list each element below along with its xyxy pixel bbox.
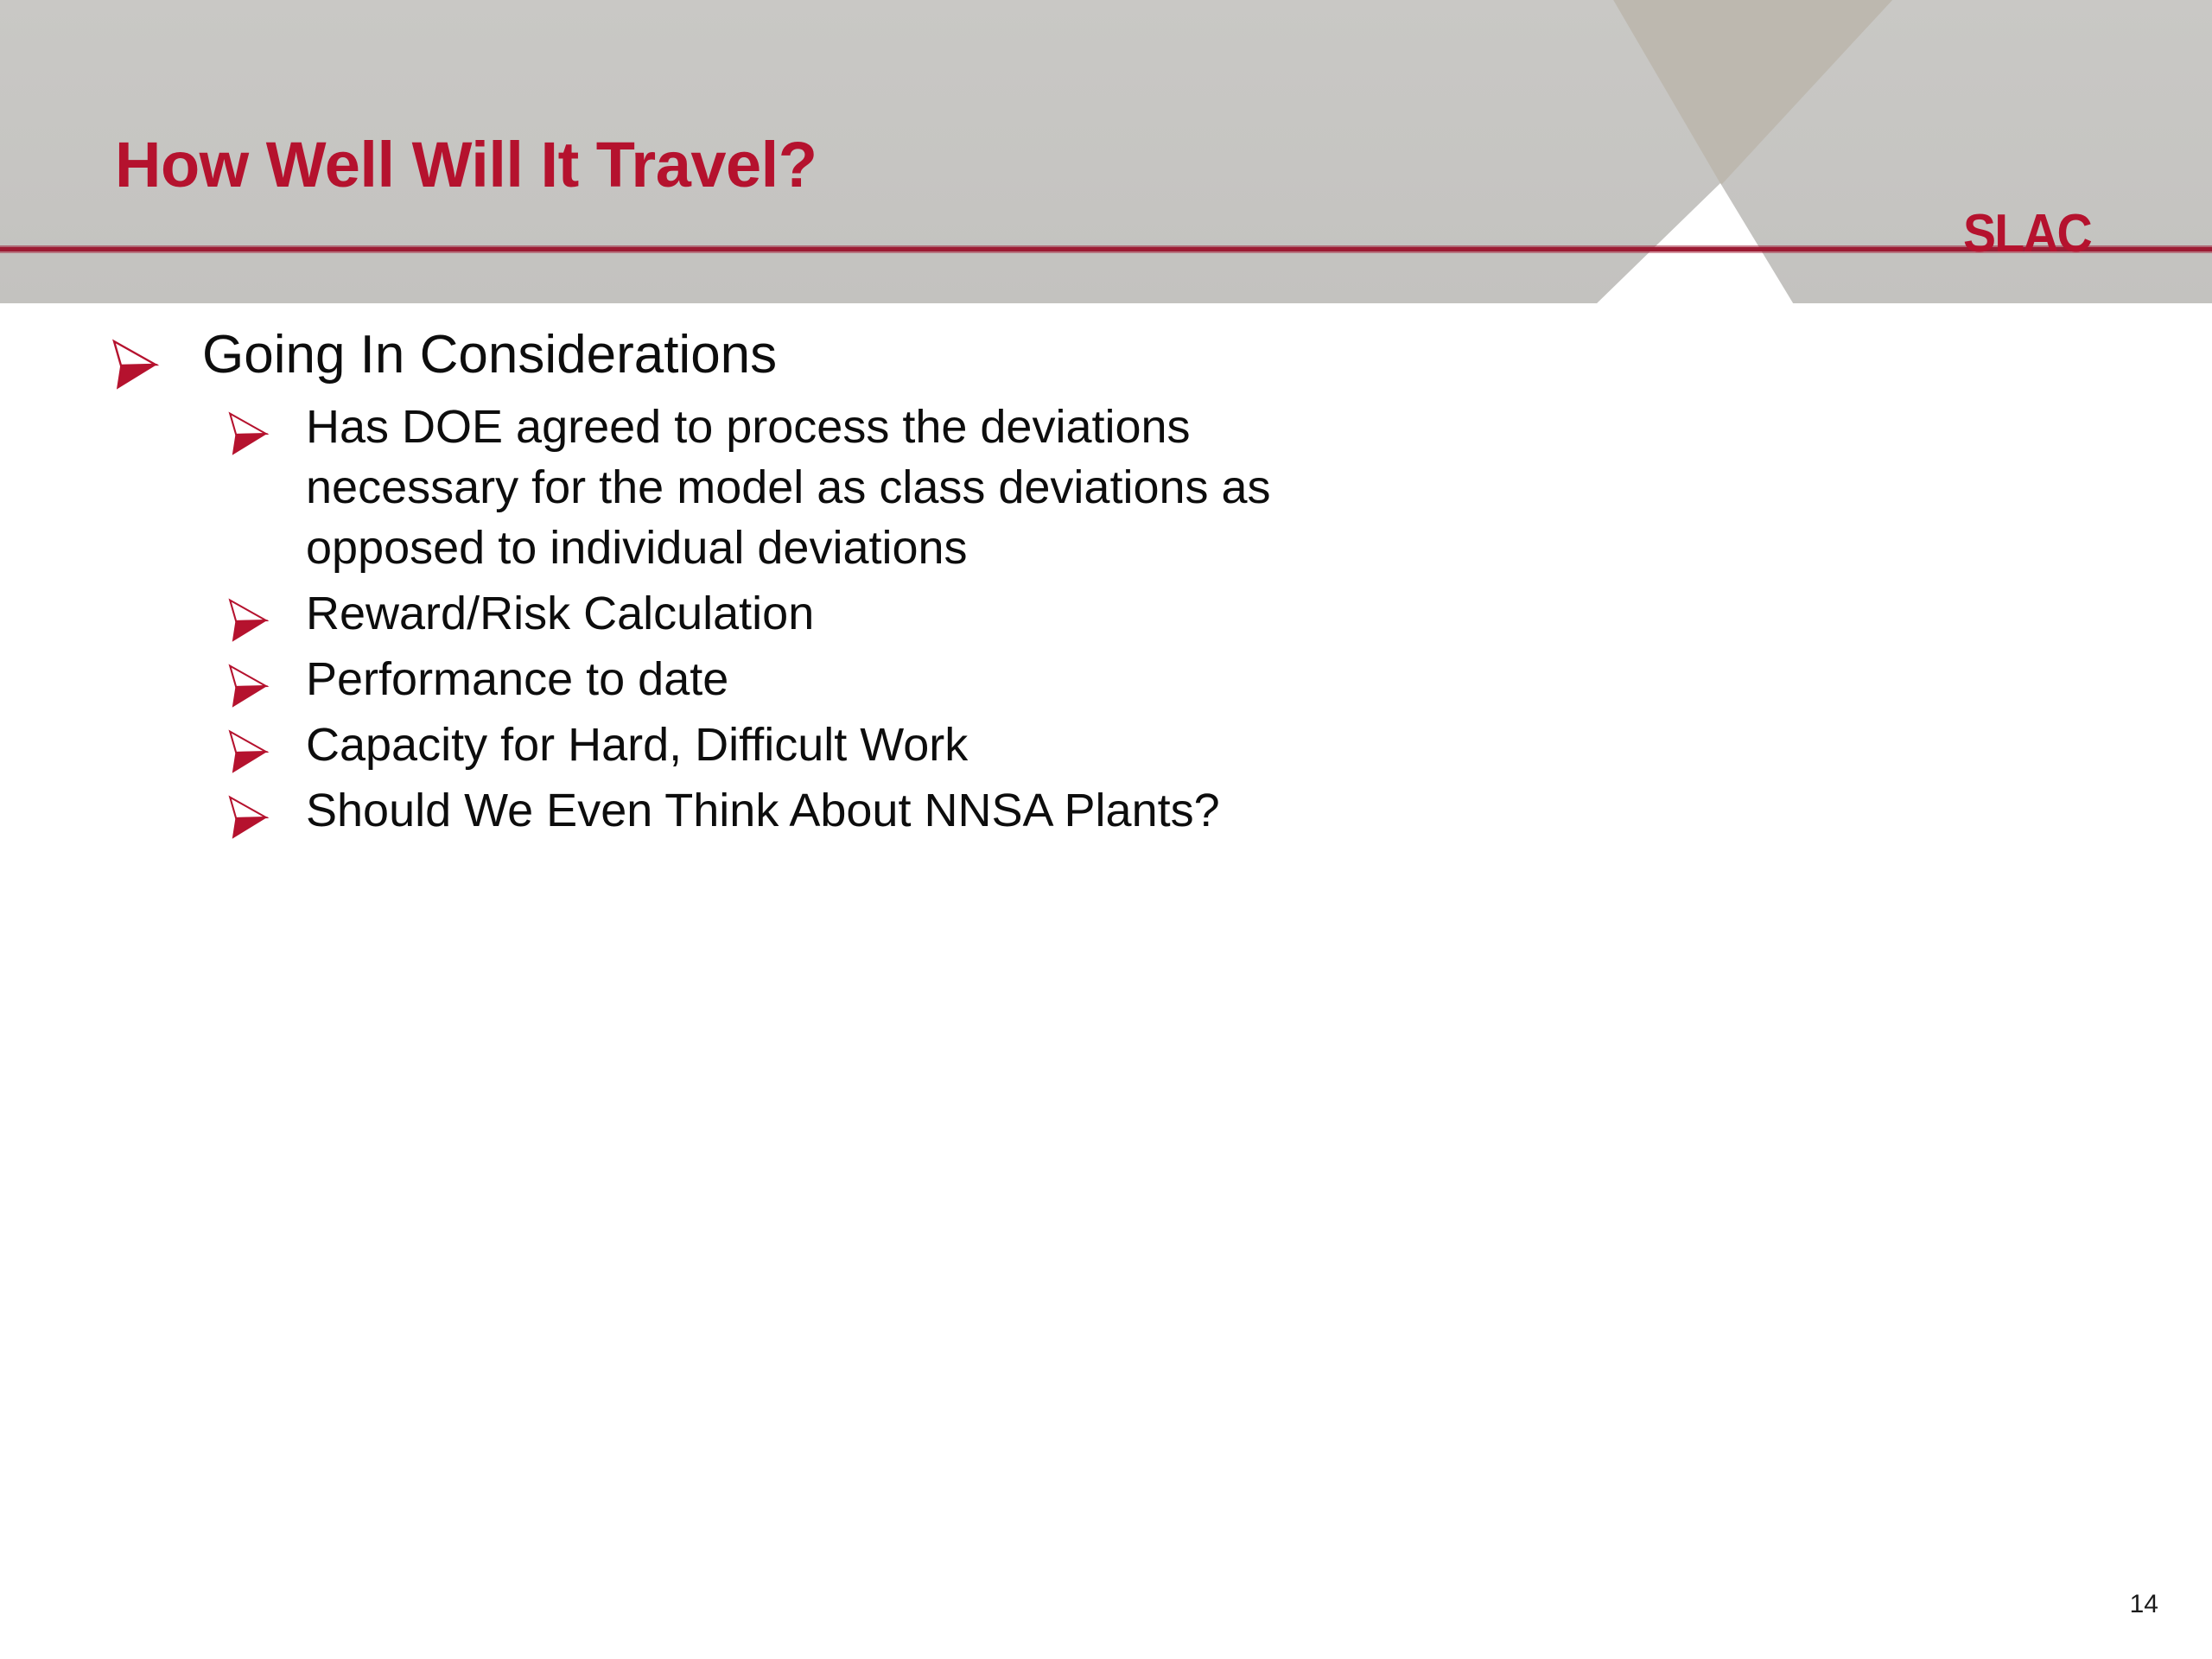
- page-title: How Well Will It Travel?: [115, 128, 817, 202]
- bullet-item: Capacity for Hard, Difficult Work: [0, 715, 2212, 775]
- arrowhead-bullet-icon: [226, 663, 270, 709]
- bullet-text: Has DOE agreed to process the deviations…: [306, 397, 1325, 578]
- bullet-list: Going In ConsiderationsHas DOE agreed to…: [0, 303, 2212, 841]
- slac-logo: SLAC: [1963, 207, 2091, 261]
- slide-header-band: How Well Will It Travel? SLAC: [0, 0, 2212, 303]
- arrowhead-bullet-icon: [226, 410, 270, 457]
- white-triangle-decoration-icon: [1594, 183, 1795, 303]
- bullet-item: Performance to date: [0, 649, 2212, 709]
- arrowhead-bullet-icon: [226, 794, 270, 841]
- arrowhead-bullet-icon: [109, 338, 161, 391]
- header-divider-rule: [0, 245, 2212, 253]
- bullet-text: Capacity for Hard, Difficult Work: [306, 715, 968, 775]
- bullet-text: Performance to date: [306, 649, 728, 709]
- bullet-item: Has DOE agreed to process the deviations…: [0, 397, 2212, 578]
- arrowhead-bullet-icon: [226, 597, 270, 644]
- arrowhead-bullet-icon: [226, 728, 270, 775]
- presentation-slide: How Well Will It Travel? SLAC Going In C…: [0, 0, 2212, 1659]
- rule-highlight-bottom: [0, 251, 2212, 253]
- page-number: 14: [2130, 1590, 2158, 1619]
- bullet-item: Reward/Risk Calculation: [0, 583, 2212, 644]
- tan-triangle-decoration-icon: [1612, 0, 1894, 185]
- bullet-item: Should We Even Think About NNSA Plants?: [0, 780, 2212, 841]
- bullet-item: Going In Considerations: [0, 321, 2212, 391]
- bullet-text: Going In Considerations: [202, 321, 777, 390]
- slide-body: Going In ConsiderationsHas DOE agreed to…: [0, 303, 2212, 1659]
- bullet-text: Reward/Risk Calculation: [306, 583, 814, 644]
- bullet-text: Should We Even Think About NNSA Plants?: [306, 780, 1220, 841]
